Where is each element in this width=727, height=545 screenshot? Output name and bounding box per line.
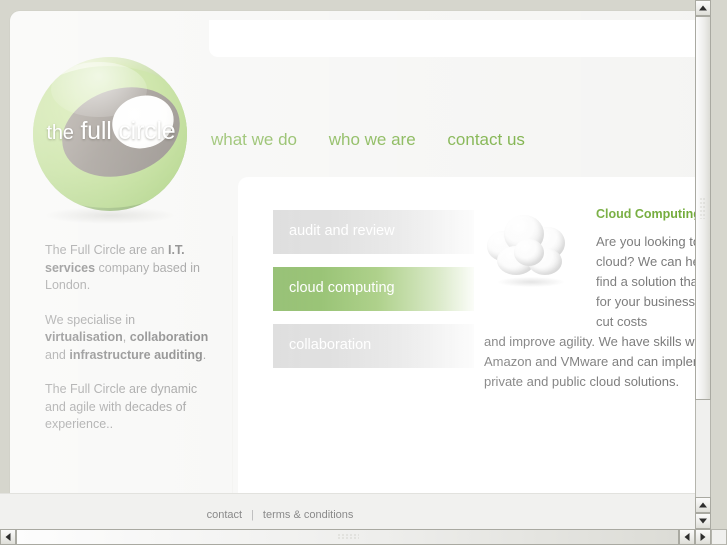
scroll-down-button[interactable]	[695, 513, 711, 529]
site-logo[interactable]: the full circle	[27, 55, 191, 227]
column-divider	[232, 236, 233, 501]
browser-viewport: the full circle what we do who we are co…	[0, 0, 711, 529]
footer-link-contact[interactable]: contact	[207, 509, 242, 521]
sidebar-text-run: ,	[123, 330, 130, 344]
article-paragraph: Are you looking to the cloud? We can hel…	[484, 232, 711, 392]
service-tab-list: audit and review cloud computing collabo…	[273, 210, 474, 381]
scroll-up-button[interactable]	[695, 0, 711, 16]
thumb-grip-icon	[700, 197, 707, 219]
sidebar-text-run: We specialise in	[45, 313, 135, 327]
service-tab-label: cloud computing	[289, 280, 395, 296]
scroll-up-button-secondary[interactable]	[695, 497, 711, 513]
triangle-up-icon	[699, 6, 707, 11]
scroll-right-button[interactable]	[695, 529, 711, 545]
triangle-up-icon	[699, 503, 707, 508]
service-tab-audit-and-review[interactable]: audit and review	[273, 210, 474, 254]
logo-wordmark: the full circle	[27, 117, 195, 146]
scroll-left-button[interactable]	[0, 529, 16, 545]
article-text-indented: Are you looking to the cloud? We can hel…	[484, 232, 711, 332]
triangle-right-icon	[701, 533, 706, 541]
sidebar-text-run-bold: virtualisation	[45, 330, 123, 344]
triangle-down-icon	[699, 519, 707, 524]
service-tab-cloud-computing[interactable]: cloud computing	[273, 267, 474, 311]
triangle-left-icon	[6, 533, 11, 541]
logo-word-circle: circle	[118, 117, 175, 145]
top-banner-panel	[209, 20, 711, 57]
nav-item-contact-us[interactable]: contact us	[447, 130, 525, 150]
article-text-flow: and improve agility. We have skills with…	[484, 334, 711, 389]
footer-separator: |	[251, 509, 254, 521]
service-tab-label: collaboration	[289, 337, 371, 353]
sidebar-text-run: .	[203, 348, 206, 362]
triangle-left-icon	[685, 533, 690, 541]
logo-word-full: full	[80, 117, 111, 145]
footer-link-terms-and-conditions[interactable]: terms & conditions	[263, 509, 353, 521]
sidebar-text-run-bold: collaboration	[130, 330, 208, 344]
sidebar-paragraph-1: The Full Circle are an I.T. services com…	[45, 242, 210, 295]
sidebar-text-run: and	[45, 348, 69, 362]
service-tab-collaboration[interactable]: collaboration	[273, 324, 474, 368]
sidebar-text-run: The Full Circle are an	[45, 243, 168, 257]
site-footer: contact|terms & conditions	[0, 493, 711, 529]
thumb-grip-icon	[337, 534, 359, 541]
article-heading: Cloud Computing	[596, 207, 701, 221]
scroll-left-button-secondary[interactable]	[679, 529, 695, 545]
horizontal-scroll-thumb[interactable]	[16, 529, 679, 545]
footer-links: contact|terms & conditions	[0, 509, 560, 521]
logo-word-the: the	[46, 122, 73, 144]
sidebar-paragraph-2: We specialise in virtualisation, collabo…	[45, 312, 210, 365]
service-tab-label: audit and review	[289, 223, 395, 239]
content-panel: audit and review cloud computing collabo…	[238, 177, 711, 503]
logo-gloss-highlight	[51, 62, 146, 117]
scrollbar-corner	[711, 529, 727, 545]
vertical-scroll-thumb[interactable]	[695, 16, 711, 400]
sidebar-intro-text: The Full Circle are an I.T. services com…	[45, 242, 210, 451]
sidebar-paragraph-3: The Full Circle are dynamic and agile wi…	[45, 381, 210, 434]
sidebar-text-run-bold: infrastructure auditing	[69, 348, 202, 362]
nav-item-what-we-do[interactable]: what we do	[211, 130, 297, 150]
main-navigation: what we do who we are contact us	[211, 130, 552, 150]
nav-item-who-we-are[interactable]: who we are	[329, 130, 416, 150]
site-page-shell: the full circle what we do who we are co…	[10, 11, 711, 493]
